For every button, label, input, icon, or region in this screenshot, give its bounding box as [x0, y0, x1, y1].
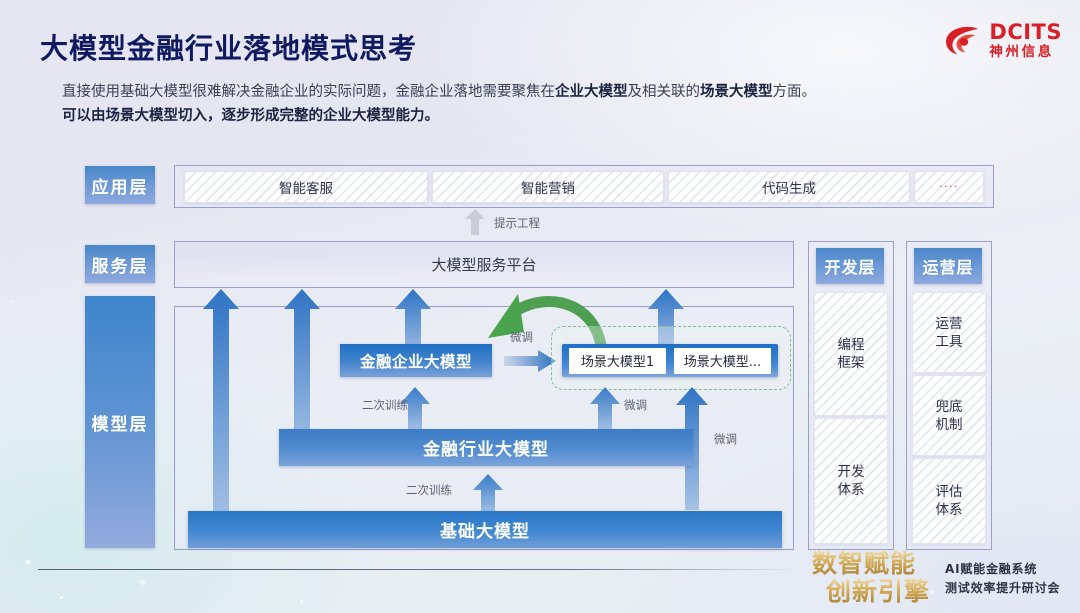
subtitle-segment-1: 直接使用基础大模型很难解决金融企业的实际问题，金融企业落地需要聚焦在 — [62, 84, 555, 100]
app-card-smart-marketing[interactable]: 智能营销 — [432, 171, 664, 203]
development-cell-system[interactable]: 开发 体系 — [814, 418, 888, 544]
arrow-label-finetune-2: 微调 — [624, 397, 647, 413]
foundation-model-box[interactable]: 基础大模型 — [188, 511, 782, 548]
operation-cell-fallback[interactable]: 兜底 机制 — [912, 375, 986, 456]
layer-tab-development-label: 开发层 — [824, 254, 875, 278]
app-card-label: 智能营销 — [521, 177, 575, 197]
sparkle-decoration — [300, 600, 303, 603]
operation-cell-line-2: 体系 — [936, 501, 963, 519]
arrow-label-finetune-3: 微调 — [714, 431, 737, 447]
layer-tab-service[interactable]: 服务层 — [85, 245, 155, 283]
operation-cell-tools[interactable]: 运营 工具 — [912, 292, 986, 373]
operation-cell-line-1: 评估 — [936, 483, 963, 501]
event-subtitle-line-1: AI赋能金融系统 — [945, 560, 1060, 579]
sparkle-decoration — [26, 560, 30, 564]
layer-tab-operation-label: 运营层 — [922, 254, 973, 278]
layer-tab-development[interactable]: 开发层 — [816, 248, 884, 284]
arrow-label-retrain-2: 二次训练 — [406, 482, 452, 498]
foundation-model-label: 基础大模型 — [440, 517, 530, 542]
arrow-up-finetune-scene-center — [590, 387, 620, 429]
industry-model-label: 金融行业大模型 — [423, 435, 549, 460]
operation-cell-line-2: 机制 — [936, 416, 963, 434]
event-subtitle: AI赋能金融系统 测试效率提升研讨会 — [945, 560, 1060, 598]
brand-name-en: DCITS — [989, 22, 1062, 43]
arrow-right-finetune — [504, 350, 556, 372]
arrow-up-foundation-to-platform — [203, 289, 239, 525]
subtitle-highlight-scene: 场景大模型 — [700, 84, 773, 100]
development-cell-line-2: 框架 — [838, 354, 865, 372]
development-cell-line-2: 体系 — [838, 481, 865, 499]
event-subtitle-line-2: 测试效率提升研讨会 — [945, 579, 1060, 598]
event-logo-line-1: 数智赋能 — [812, 549, 916, 578]
app-card-label: 智能客服 — [279, 177, 333, 197]
event-logo: 数智赋能 创新引擎 — [812, 548, 942, 606]
scene-model-label: 场景大模型... — [684, 351, 761, 370]
service-platform-label: 大模型服务平台 — [431, 254, 536, 275]
operation-cell-line-1: 运营 — [936, 315, 963, 333]
layer-tab-application[interactable]: 应用层 — [85, 166, 155, 204]
arrow-label-retrain-1: 二次训练 — [362, 397, 408, 413]
sparkle-decoration — [140, 580, 145, 585]
arrow-label-finetune-1: 微调 — [510, 329, 533, 345]
industry-model-box[interactable]: 金融行业大模型 — [279, 429, 693, 466]
app-card-more[interactable]: ···· — [914, 171, 984, 203]
sparkle-decoration — [10, 300, 13, 303]
app-card-smart-service[interactable]: 智能客服 — [184, 171, 428, 203]
layer-tab-application-label: 应用层 — [92, 173, 149, 198]
page-title: 大模型金融行业落地模式思考 — [40, 27, 417, 67]
arrow-prompt-engineering — [464, 209, 486, 235]
subtitle-segment-3: 方面。 — [773, 84, 817, 100]
development-cell-line-1: 编程 — [838, 336, 865, 354]
arrow-label-prompt-engineering: 提示工程 — [494, 215, 540, 231]
layer-tab-operation[interactable]: 运营层 — [914, 248, 982, 284]
app-card-code-generation[interactable]: 代码生成 — [668, 171, 910, 203]
layer-tab-model[interactable]: 模型层 — [85, 296, 155, 548]
service-layer-panel: 大模型服务平台 — [174, 241, 794, 288]
layer-tab-model-label: 模型层 — [92, 410, 149, 435]
layer-tab-service-label: 服务层 — [92, 252, 149, 277]
operation-cell-line-1: 兜底 — [936, 398, 963, 416]
brand-name-cn: 神州信息 — [989, 46, 1062, 60]
brand-wordmark: DCITS 神州信息 — [989, 22, 1062, 60]
ellipsis-icon: ···· — [939, 184, 959, 190]
scene-models-container: 场景大模型1 场景大模型... — [562, 344, 778, 377]
development-cell-framework[interactable]: 编程 框架 — [814, 292, 888, 416]
arrow-up-retrain-industry — [473, 474, 503, 512]
swoosh-icon — [944, 24, 982, 58]
operation-cell-evaluation[interactable]: 评估 体系 — [912, 458, 986, 544]
scene-model-card[interactable]: 场景大模型1 — [569, 348, 666, 374]
sparkle-decoration — [60, 596, 63, 599]
scene-model-label: 场景大模型1 — [581, 351, 654, 370]
page-subtitle: 直接使用基础大模型很难解决金融企业的实际问题，金融企业落地需要聚焦在企业大模型及… — [62, 80, 942, 128]
subtitle-segment-2: 及相关联的 — [628, 84, 701, 100]
event-logo-line-2: 创新引擎 — [825, 577, 930, 606]
slide-root: 大模型金融行业落地模式思考 直接使用基础大模型很难解决金融企业的实际问题，金融企… — [0, 0, 1080, 613]
brand-logo: DCITS 神州信息 — [944, 22, 1062, 60]
footer-divider — [38, 569, 800, 570]
scene-model-card[interactable]: 场景大模型... — [674, 348, 771, 374]
development-cell-line-1: 开发 — [838, 463, 865, 481]
subtitle-line-2: 可以由场景大模型切入，逐步形成完整的企业大模型能力。 — [62, 108, 439, 124]
operation-cell-line-2: 工具 — [936, 333, 963, 351]
enterprise-model-box[interactable]: 金融企业大模型 — [340, 344, 492, 377]
app-card-label: 代码生成 — [762, 177, 816, 197]
subtitle-highlight-enterprise: 企业大模型 — [555, 84, 628, 100]
enterprise-model-label: 金融企业大模型 — [360, 350, 472, 372]
